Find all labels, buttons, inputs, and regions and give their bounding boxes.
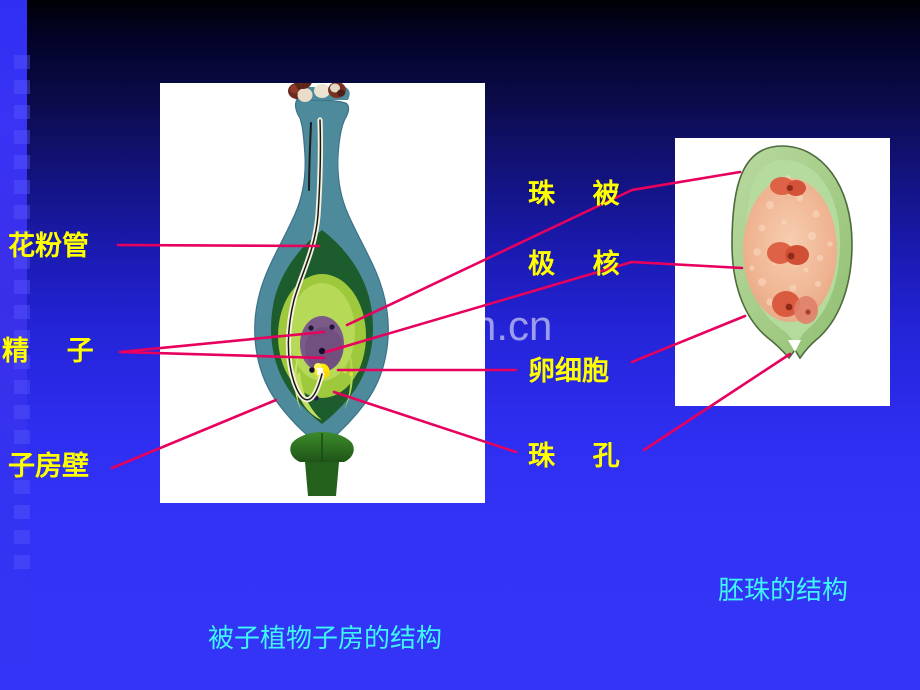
leader-pollen-tube bbox=[118, 245, 319, 246]
label-polar-nuclei: 极 核 bbox=[528, 250, 620, 280]
synergid-nucleus-right bbox=[329, 324, 334, 329]
polar-nucleus-dot bbox=[319, 348, 325, 354]
slide-canvas: www.rixin.com.cn bbox=[0, 0, 920, 690]
label-egg-cell: 卵细胞 bbox=[528, 357, 609, 387]
ovary-drawing bbox=[255, 73, 388, 496]
label-ovary-wall: 子房壁 bbox=[8, 452, 89, 482]
leader-polar-nuclei bbox=[632, 262, 742, 268]
label-sperm: 精 子 bbox=[2, 337, 94, 367]
leader-lines bbox=[112, 172, 790, 468]
label-micropyle: 珠 孔 bbox=[528, 442, 620, 472]
leader-micropyle bbox=[334, 392, 516, 452]
caption-left: 被子植物子房的结构 及双受精过程 bbox=[160, 562, 490, 690]
label-integument: 珠 被 bbox=[528, 180, 620, 210]
caption-left-line1: 被子植物子房的结构 bbox=[160, 624, 490, 655]
leader-ovary-wall bbox=[112, 400, 276, 468]
caption-right: 胚珠的结构 bbox=[672, 576, 894, 607]
ovule-drawing bbox=[732, 146, 852, 358]
synergid-nucleus-left bbox=[308, 325, 313, 330]
label-pollen-tube: 花粉管 bbox=[8, 232, 89, 262]
leader-egg-cell-right bbox=[632, 316, 745, 362]
leader-micropyle-right bbox=[644, 354, 790, 450]
leader-integument bbox=[632, 172, 740, 190]
antipodal-nucleus-dot bbox=[309, 367, 315, 373]
pedicel-stalk bbox=[305, 462, 339, 496]
